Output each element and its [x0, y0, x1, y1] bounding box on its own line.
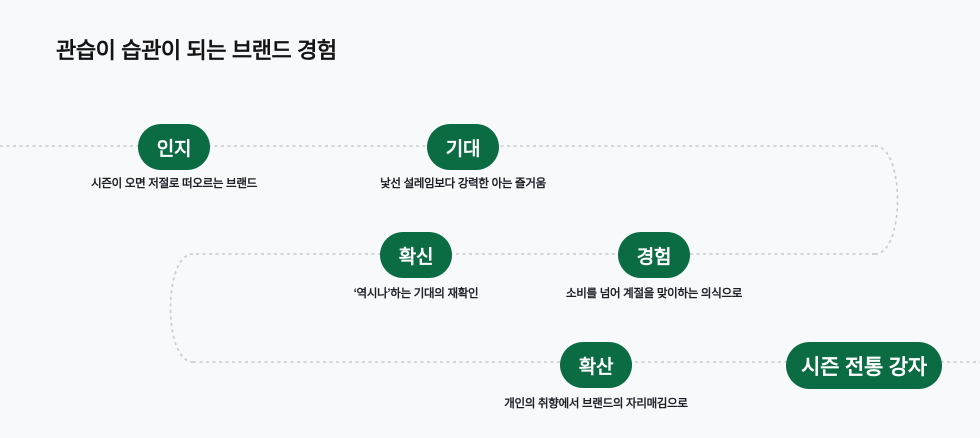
flow-node-caption-2: 낯선 설레임보다 강력한 아는 즐거움 — [380, 175, 546, 191]
flow-node-5[interactable]: 확산 — [560, 342, 632, 388]
flow-node-4[interactable]: 경험 — [618, 232, 690, 278]
flow-node-2[interactable]: 기대 — [427, 124, 499, 170]
flow-node-caption-5: 개인의 취향에서 브랜드의 자리매김으로 — [504, 395, 687, 411]
flow-node-caption-1: 시즌이 오면 저절로 떠오르는 브랜드 — [91, 175, 257, 191]
flow-node-6[interactable]: 시즌 전통 강자 — [786, 342, 942, 389]
flow-node-3[interactable]: 확신 — [380, 232, 452, 278]
infographic-canvas: 관습이 습관이 되는 브랜드 경험 인지시즌이 오면 저절로 떠오르는 브랜드기… — [0, 0, 980, 438]
connector-segment-1 — [875, 146, 898, 254]
flow-node-caption-4: 소비를 넘어 계절을 맞이하는 의식으로 — [566, 285, 742, 301]
page-title: 관습이 습관이 되는 브랜드 경험 — [56, 33, 337, 65]
flow-node-1[interactable]: 인지 — [138, 124, 210, 170]
flow-node-caption-3: ‘역시나’하는 기대의 재확인 — [354, 285, 479, 301]
connector-segment-3 — [171, 254, 194, 362]
